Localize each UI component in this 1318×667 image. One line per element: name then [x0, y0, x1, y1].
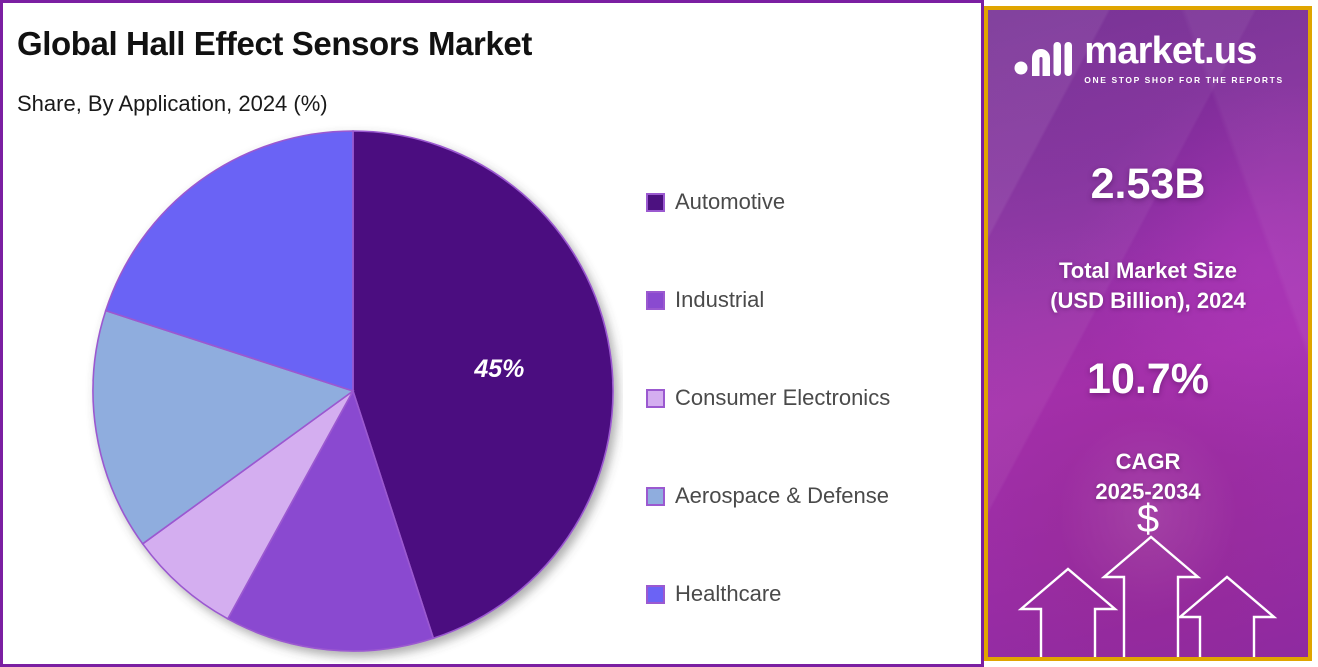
up-arrow-right-icon: [1180, 577, 1274, 657]
market-size-value: 2.53B: [988, 160, 1308, 209]
arrows-svg: [988, 487, 1308, 657]
legend-label-healthcare: Healthcare: [675, 581, 781, 607]
chart-panel: Global Hall Effect Sensors Market Share,…: [0, 0, 984, 667]
brand-logo-text: market.us ONE STOP SHOP FOR THE REPORTS: [1084, 32, 1283, 85]
legend-item-automotive[interactable]: Automotive: [646, 153, 976, 251]
brand-panel: market.us ONE STOP SHOP FOR THE REPORTS …: [984, 0, 1318, 667]
legend-swatch-consumer-electronics: [646, 389, 665, 408]
pie-chart-svg: 45%: [83, 123, 623, 663]
brand-logo[interactable]: market.us ONE STOP SHOP FOR THE REPORTS: [988, 32, 1308, 85]
pie-slices-group: [93, 131, 613, 651]
legend-item-aerospace-defense[interactable]: Aerospace & Defense: [646, 447, 976, 545]
chart-legend: Automotive Industrial Consumer Electroni…: [646, 153, 976, 643]
page-subtitle: Share, By Application, 2024 (%): [17, 91, 328, 117]
legend-swatch-automotive: [646, 193, 665, 212]
market-size-caption-line2: (USD Billion), 2024: [988, 286, 1308, 316]
legend-label-industrial: Industrial: [675, 287, 764, 313]
market-us-logo-icon: [1012, 36, 1074, 82]
pie-chart: 45%: [83, 123, 623, 663]
page-title: Global Hall Effect Sensors Market: [17, 25, 532, 63]
legend-swatch-aerospace-defense: [646, 487, 665, 506]
up-arrow-left-icon: [1021, 569, 1115, 657]
cagr-value: 10.7%: [988, 355, 1308, 404]
legend-label-automotive: Automotive: [675, 189, 785, 215]
legend-label-aerospace-defense: Aerospace & Defense: [675, 483, 889, 509]
growth-arrows-graphic: $: [988, 487, 1308, 657]
cagr-caption-line1: CAGR: [988, 447, 1308, 477]
brand-panel-inner: market.us ONE STOP SHOP FOR THE REPORTS …: [984, 6, 1312, 661]
brand-logo-wordmark: market.us: [1084, 32, 1283, 70]
legend-swatch-industrial: [646, 291, 665, 310]
brand-logo-tagline: ONE STOP SHOP FOR THE REPORTS: [1084, 75, 1283, 85]
market-size-caption: Total Market Size (USD Billion), 2024: [988, 256, 1308, 315]
legend-item-consumer-electronics[interactable]: Consumer Electronics: [646, 349, 976, 447]
legend-label-consumer-electronics: Consumer Electronics: [675, 385, 890, 411]
legend-item-industrial[interactable]: Industrial: [646, 251, 976, 349]
legend-item-healthcare[interactable]: Healthcare: [646, 545, 976, 643]
infographic-root: Global Hall Effect Sensors Market Share,…: [0, 0, 1318, 667]
legend-swatch-healthcare: [646, 585, 665, 604]
market-size-caption-line1: Total Market Size: [988, 256, 1308, 286]
up-arrow-center-icon: [1104, 537, 1198, 657]
pie-slice-label-automotive: 45%: [473, 355, 524, 383]
